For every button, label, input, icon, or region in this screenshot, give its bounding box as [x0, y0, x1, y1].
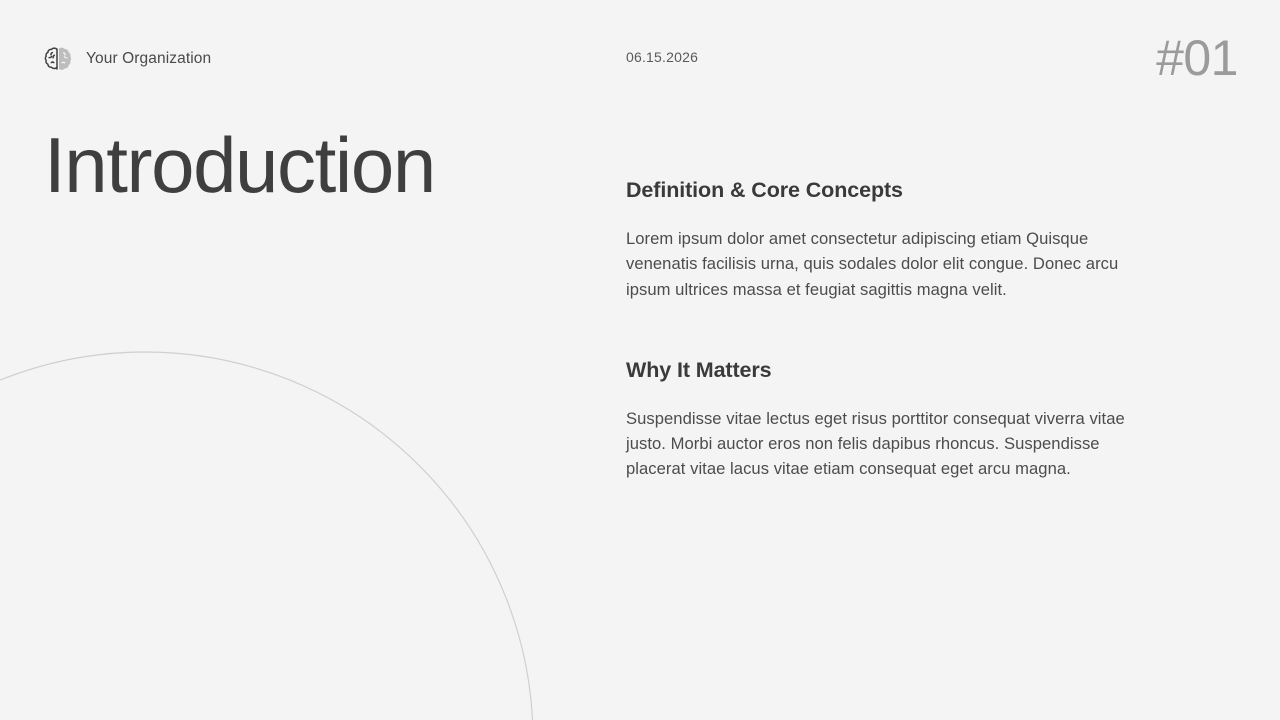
- slide-title: Introduction: [44, 126, 564, 204]
- presentation-slide: Your Organization 06.15.2026 #01 Introdu…: [0, 0, 1280, 720]
- slide-number-badge: #01: [1156, 33, 1238, 83]
- section-heading: Definition & Core Concepts: [626, 178, 1136, 204]
- title-block: Introduction: [44, 126, 564, 204]
- section-body: Suspendisse vitae lectus eget risus port…: [626, 406, 1136, 482]
- brand-lockup: Your Organization: [42, 43, 211, 75]
- slide-header: Your Organization 06.15.2026 #01: [0, 0, 1280, 118]
- brain-icon: [42, 43, 74, 75]
- section-body: Lorem ipsum dolor amet consectetur adipi…: [626, 226, 1136, 302]
- organization-name: Your Organization: [86, 50, 211, 68]
- slide-date: 06.15.2026: [626, 49, 698, 65]
- content-section: Why It Matters Suspendisse vitae lectus …: [626, 358, 1136, 482]
- section-heading: Why It Matters: [626, 358, 1136, 384]
- content-section: Definition & Core Concepts Lorem ipsum d…: [626, 178, 1136, 302]
- content-column: Definition & Core Concepts Lorem ipsum d…: [626, 178, 1136, 482]
